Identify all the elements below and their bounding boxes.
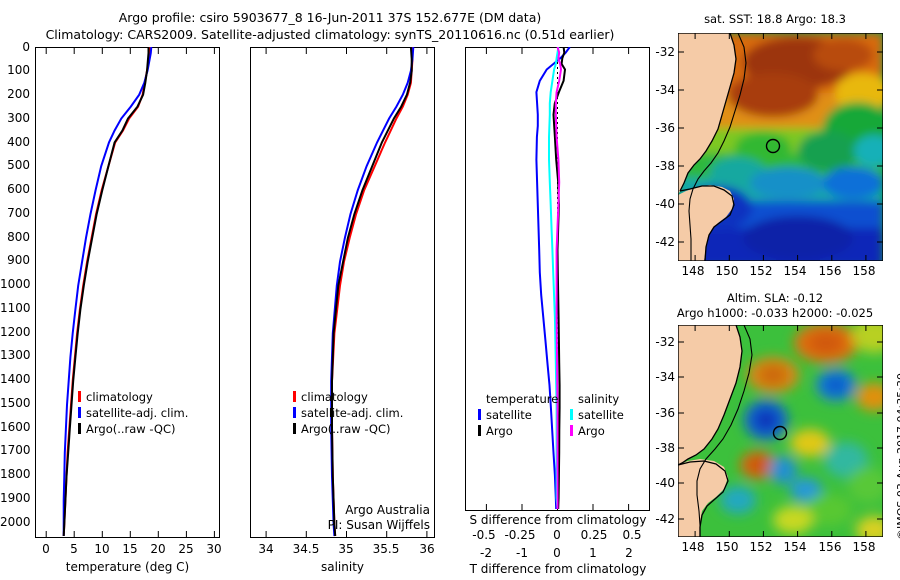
temperature-xtick-30: 30 [204,542,224,556]
salinity-xtick-34-5: 34.5 [291,542,321,556]
difference-ttick-0: 0 [545,546,569,560]
sst-xtick-154: 154 [782,264,808,278]
legend-item-climatology: climatology [78,390,188,404]
temperature-ytick-1600: 1600 [0,420,30,434]
legend-swatch-argo [78,423,81,434]
difference-ttick-2: 2 [617,546,641,560]
difference-profile-curves [465,47,650,511]
sst-ytick-40: -40 [645,197,675,211]
temperature-ytick-400: 400 [0,135,30,149]
difference-temperature-axis-label: T difference from climatology [462,562,654,576]
legend-swatch-satellite-adj-salinity [293,407,296,418]
legend-item-salinity-argo: Argo [570,424,624,438]
legend-item-argo-salinity: Argo(..raw -QC) [293,422,403,436]
temperature-ytick-1500: 1500 [0,396,30,410]
sla-xtick-156: 156 [817,540,843,554]
difference-stick-0-5: 0.5 [614,528,650,542]
temperature-ytick-100: 100 [0,63,30,77]
salinity-xaxis-label: salinity [250,560,435,574]
temperature-ytick-200: 200 [0,87,30,101]
difference-salinity-axis-label: S difference from climatology [462,513,654,527]
legend-swatch-temperature-satellite [478,409,481,420]
sla-xtick-148: 148 [680,540,706,554]
temperature-ytick-1300: 1300 [0,348,30,362]
legend-header-salinity: salinity [570,392,624,406]
sst-xtick-158: 158 [851,264,877,278]
legend-item-salinity-satellite: satellite [570,408,624,422]
figure-title-line2: Climatology: CARS2009. Satellite-adjuste… [0,27,660,42]
temperature-legend: climatology satellite-adj. clim. Argo(..… [78,390,188,436]
sla-xtick-154: 154 [782,540,808,554]
temperature-ytick-1900: 1900 [0,491,30,505]
sla-ytick-32: -32 [645,335,675,349]
temperature-ytick-300: 300 [0,111,30,125]
temperature-ytick-2000: 2000 [0,515,30,529]
temperature-ytick-1200: 1200 [0,325,30,339]
temperature-ytick-1400: 1400 [0,372,30,386]
temperature-ytick-1000: 1000 [0,277,30,291]
temperature-ytick-800: 800 [0,230,30,244]
temperature-ytick-900: 900 [0,253,30,267]
sst-xtick-150: 150 [714,264,740,278]
sst-ytick-32: -32 [645,45,675,59]
sla-ytick-36: -36 [645,406,675,420]
temperature-ytick-1700: 1700 [0,443,30,457]
difference-stick-0-25: 0.25 [574,528,614,542]
temperature-profile-curves [35,47,220,538]
legend-item-argo: Argo(..raw -QC) [78,422,188,436]
legend-header-temperature: temperature [478,392,558,406]
legend-item-temperature-satellite: satellite [478,408,558,422]
legend-item-satellite-adj-salinity: satellite-adj. clim. [293,406,403,420]
legend-swatch-climatology [78,391,81,402]
difference-legend-temperature: temperature satellite Argo [478,392,558,438]
sst-map-header: sat. SST: 18.8 Argo: 18.3 [660,12,890,26]
difference-ttick-1: 1 [581,546,605,560]
temperature-xaxis-label: temperature (deg C) [35,560,220,574]
sst-ytick-36: -36 [645,121,675,135]
sst-xtick-156: 156 [817,264,843,278]
difference-ttick-neg2: -2 [474,546,498,560]
difference-stick-neg0-25: -0.25 [500,528,540,542]
salinity-xtick-36: 36 [412,542,442,556]
temperature-xtick-5: 5 [64,542,84,556]
sla-ytick-34: -34 [645,370,675,384]
salinity-profile-curves [250,47,435,538]
legend-item-temperature-argo: Argo [478,424,558,438]
temperature-ytick-0: 0 [0,40,30,54]
legend-swatch-argo-salinity [293,423,296,434]
sst-ytick-34: -34 [645,83,675,97]
argo-australia-credit: Argo Australia [300,503,430,517]
sst-ytick-38: -38 [645,159,675,173]
temperature-ytick-700: 700 [0,206,30,220]
sla-xtick-158: 158 [851,540,877,554]
temperature-xtick-15: 15 [120,542,140,556]
temperature-xtick-10: 10 [92,542,112,556]
figure-title-line1: Argo profile: csiro 5903677_8 16-Jun-201… [0,10,660,25]
temperature-ytick-500: 500 [0,158,30,172]
temperature-xtick-25: 25 [176,542,196,556]
legend-item-satellite-adj: satellite-adj. clim. [78,406,188,420]
legend-swatch-temperature-argo [478,425,481,436]
difference-stick-0: 0 [545,528,569,542]
legend-item-climatology-salinity: climatology [293,390,403,404]
temperature-xtick-0: 0 [36,542,56,556]
argo-pi-credit: PI: Susan Wijffels [285,518,430,532]
salinity-legend: climatology satellite-adj. clim. Argo(..… [293,390,403,436]
salinity-xtick-35: 35 [331,542,361,556]
difference-legend-salinity: salinity satellite Argo [570,392,624,438]
legend-swatch-salinity-satellite [570,409,573,420]
sla-ytick-38: -38 [645,441,675,455]
difference-stick-neg0-5: -0.5 [466,528,502,542]
temperature-ytick-1800: 1800 [0,467,30,481]
legend-swatch-satellite-adj [78,407,81,418]
difference-ttick-neg1: -1 [510,546,534,560]
temperature-ytick-1100: 1100 [0,301,30,315]
sst-xtick-148: 148 [680,264,706,278]
sst-xtick-152: 152 [748,264,774,278]
sla-xtick-150: 150 [714,540,740,554]
legend-swatch-climatology-salinity [293,391,296,402]
sst-map [678,33,883,261]
sla-map [678,325,883,537]
temperature-xtick-20: 20 [148,542,168,556]
copyright-label: ©IMOS 03-Aug-2017 04:35:30 [895,373,900,540]
legend-swatch-salinity-argo [570,425,573,436]
sla-map-header-line1: Altim. SLA: -0.12 [660,291,890,305]
sst-ytick-42: -42 [645,235,675,249]
sla-map-header-line2: Argo h1000: -0.033 h2000: -0.025 [655,306,895,320]
sla-xtick-152: 152 [748,540,774,554]
sla-ytick-40: -40 [645,476,675,490]
salinity-xtick-35-5: 35.5 [371,542,401,556]
temperature-ytick-600: 600 [0,182,30,196]
salinity-xtick-34: 34 [251,542,281,556]
sla-ytick-42: -42 [645,512,675,526]
